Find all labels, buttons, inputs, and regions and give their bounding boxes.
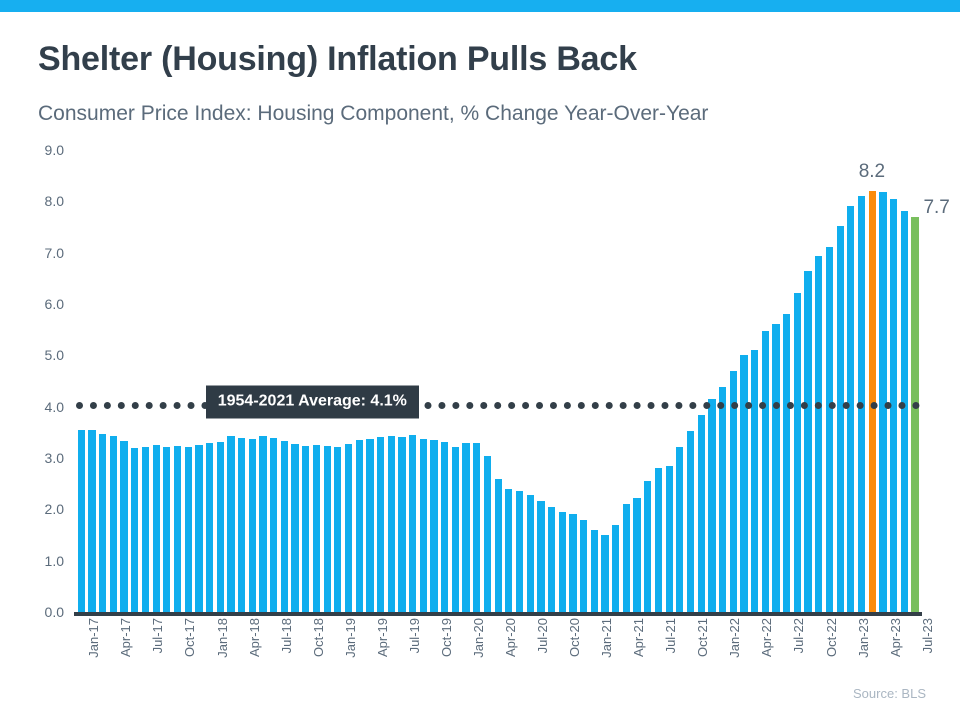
bar-slot <box>279 150 290 612</box>
bar <box>217 442 224 612</box>
bar <box>78 430 85 612</box>
x-axis-tick-label: Apr-22 <box>759 618 774 657</box>
x-axis-tick-label: Jan-20 <box>471 618 486 658</box>
bar <box>815 256 822 612</box>
bar <box>291 444 298 612</box>
bar-slot <box>771 150 782 612</box>
bar-slot <box>568 150 579 612</box>
bar-slot <box>129 150 140 612</box>
bar-slot <box>867 150 878 612</box>
bar-slot <box>749 150 760 612</box>
bar <box>762 331 769 612</box>
bar-slot <box>856 150 867 612</box>
bar <box>719 387 726 612</box>
bar <box>366 439 373 613</box>
y-axis-tick-label: 0.0 <box>45 604 64 620</box>
bar <box>227 436 234 612</box>
bar-slot <box>536 150 547 612</box>
bar-slot <box>514 150 525 612</box>
page-subtitle: Consumer Price Index: Housing Component,… <box>38 102 708 126</box>
bar <box>644 481 651 612</box>
bar-slot <box>258 150 269 612</box>
x-axis-tick-label: Jul-23 <box>920 618 935 653</box>
bar <box>324 446 331 612</box>
bar-slot <box>760 150 771 612</box>
bar <box>804 271 811 612</box>
bar-slot <box>418 150 429 612</box>
bar-slot <box>888 150 899 612</box>
bar <box>473 443 480 612</box>
bar-slot <box>589 150 600 612</box>
x-axis-tick-label: Apr-23 <box>888 618 903 657</box>
bar <box>559 512 566 612</box>
y-axis-tick-label: 5.0 <box>45 347 64 363</box>
x-axis-tick-label: Oct-22 <box>824 618 839 657</box>
x-axis-tick-label: Oct-17 <box>182 618 197 657</box>
average-annotation-badge: 1954-2021 Average: 4.1% <box>206 385 419 418</box>
x-axis-tick-label: Jan-17 <box>86 618 101 658</box>
chart-plot-area: 9.08.07.06.05.04.03.02.01.00.0 1954-2021… <box>76 150 920 612</box>
bar-slot <box>600 150 611 612</box>
bar-slot <box>546 150 557 612</box>
bar <box>580 520 587 612</box>
bar-slot <box>846 150 857 612</box>
bar <box>612 525 619 612</box>
y-axis-tick-label: 8.0 <box>45 193 64 209</box>
bar-slot <box>632 150 643 612</box>
bar-slot <box>803 150 814 612</box>
bar <box>163 447 170 612</box>
bar <box>527 495 534 612</box>
bar-slot <box>557 150 568 612</box>
x-axis-tick-label: Jan-18 <box>215 618 230 658</box>
bar <box>174 446 181 612</box>
bar <box>794 293 801 612</box>
bar <box>708 399 715 612</box>
bar-slot <box>899 150 910 612</box>
bar-series <box>76 150 920 612</box>
bar-slot <box>311 150 322 612</box>
bar-slot <box>525 150 536 612</box>
y-axis-tick-label: 6.0 <box>45 296 64 312</box>
bar-slot <box>504 150 515 612</box>
bar-slot <box>429 150 440 612</box>
bar-slot <box>707 150 718 612</box>
bar-slot <box>119 150 130 612</box>
bar-slot <box>792 150 803 612</box>
bar <box>676 447 683 612</box>
bar <box>249 439 256 613</box>
bar <box>847 206 854 612</box>
x-axis-tick-label: Oct-18 <box>311 618 326 657</box>
bar <box>398 437 405 612</box>
bar <box>281 441 288 612</box>
bar <box>110 436 117 612</box>
bar-slot <box>824 150 835 612</box>
y-axis-tick-label: 9.0 <box>45 142 64 158</box>
bar-slot <box>386 150 397 612</box>
bar-slot <box>493 150 504 612</box>
bar-slot <box>365 150 376 612</box>
data-label-latest: 7.7 <box>923 197 949 219</box>
bar-slot <box>172 150 183 612</box>
x-axis-tick-label: Apr-19 <box>375 618 390 657</box>
bar <box>772 324 779 612</box>
bar-slot <box>76 150 87 612</box>
bar-slot <box>610 150 621 612</box>
x-axis-tick-label: Oct-20 <box>567 618 582 657</box>
bar <box>548 507 555 612</box>
x-axis-baseline <box>74 612 922 616</box>
bar-slot <box>739 150 750 612</box>
bar <box>142 447 149 612</box>
x-axis-tick-label: Jul-18 <box>279 618 294 653</box>
bar <box>131 448 138 612</box>
x-axis-tick-label: Jul-19 <box>407 618 422 653</box>
bar <box>420 439 427 613</box>
x-axis-tick-label: Jan-19 <box>343 618 358 658</box>
x-axis-tick-label: Jul-21 <box>663 618 678 653</box>
bar <box>377 437 384 612</box>
bar-slot <box>151 150 162 612</box>
bar-slot <box>375 150 386 612</box>
x-axis-tick-label: Jan-23 <box>856 618 871 658</box>
bar <box>345 444 352 612</box>
bar-slot <box>578 150 589 612</box>
bar-slot <box>322 150 333 612</box>
bar <box>238 438 245 612</box>
bar-slot <box>343 150 354 612</box>
x-axis-tick-label: Jul-20 <box>535 618 550 653</box>
x-axis-tick-label: Oct-21 <box>695 618 710 657</box>
x-axis-tick-label: Jul-22 <box>791 618 806 653</box>
y-axis-tick-label: 3.0 <box>45 450 64 466</box>
bar <box>826 247 833 612</box>
bar <box>591 530 598 612</box>
bar-slot <box>461 150 472 612</box>
x-axis-tick-label: Apr-20 <box>503 618 518 657</box>
bar <box>623 504 630 612</box>
bar-slot <box>439 150 450 612</box>
bar-slot <box>642 150 653 612</box>
y-axis-tick-label: 7.0 <box>45 245 64 261</box>
bar-highlight-latest <box>911 217 918 612</box>
bar-slot <box>236 150 247 612</box>
data-label-peak: 8.2 <box>859 161 885 183</box>
bar-slot <box>97 150 108 612</box>
bar-slot <box>290 150 301 612</box>
bar <box>495 479 502 612</box>
bar-slot <box>407 150 418 612</box>
bar-slot <box>215 150 226 612</box>
bar <box>666 466 673 612</box>
bar-slot <box>397 150 408 612</box>
bar-slot <box>664 150 675 612</box>
bar <box>462 443 469 612</box>
bar <box>302 446 309 612</box>
bar <box>537 501 544 612</box>
bar <box>409 435 416 612</box>
bar <box>153 445 160 612</box>
bar <box>783 314 790 612</box>
bar-slot <box>268 150 279 612</box>
bar-slot <box>685 150 696 612</box>
bar <box>687 431 694 612</box>
y-axis-tick-label: 2.0 <box>45 501 64 517</box>
x-axis-tick-label: Jan-22 <box>727 618 742 658</box>
bar-slot <box>300 150 311 612</box>
bar-slot <box>621 150 632 612</box>
bar-slot <box>653 150 664 612</box>
bar <box>569 514 576 612</box>
y-axis-tick-label: 1.0 <box>45 553 64 569</box>
page-title: Shelter (Housing) Inflation Pulls Back <box>38 40 637 79</box>
bar <box>601 535 608 613</box>
bar-slot <box>354 150 365 612</box>
bar-slot <box>450 150 461 612</box>
bar <box>206 443 213 612</box>
bar <box>313 445 320 612</box>
bar <box>516 491 523 612</box>
bar <box>633 498 640 612</box>
bar <box>99 434 106 612</box>
bar-slot <box>247 150 258 612</box>
bar <box>185 447 192 612</box>
bar <box>751 350 758 612</box>
bar <box>452 447 459 612</box>
y-axis-tick-label: 4.0 <box>45 399 64 415</box>
bar-slot <box>140 150 151 612</box>
bar <box>430 440 437 612</box>
bar <box>505 489 512 612</box>
x-axis-tick-label: Apr-17 <box>118 618 133 657</box>
bar-slot <box>204 150 215 612</box>
x-axis-tick-label: Jan-21 <box>599 618 614 658</box>
bar-slot <box>675 150 686 612</box>
bar-slot <box>194 150 205 612</box>
bar-slot <box>728 150 739 612</box>
bar <box>195 445 202 612</box>
bar-slot <box>878 150 889 612</box>
bar-slot <box>471 150 482 612</box>
average-reference-line <box>76 402 920 409</box>
top-accent-rule <box>0 0 960 12</box>
bar <box>441 442 448 612</box>
bar <box>356 440 363 612</box>
bar-slot <box>226 150 237 612</box>
bar <box>334 447 341 612</box>
bar <box>740 355 747 612</box>
bar <box>901 211 908 612</box>
bar-slot <box>835 150 846 612</box>
bar-slot <box>87 150 98 612</box>
bar-slot <box>696 150 707 612</box>
bar-slot <box>717 150 728 612</box>
source-note: Source: BLS <box>853 686 926 701</box>
bar <box>837 226 844 612</box>
x-axis-tick-label: Oct-19 <box>439 618 454 657</box>
bar-slot <box>183 150 194 612</box>
bar <box>259 436 266 612</box>
bar <box>655 468 662 612</box>
bar <box>120 441 127 612</box>
bar-slot <box>333 150 344 612</box>
bar <box>388 436 395 612</box>
bar-slot <box>108 150 119 612</box>
bar <box>270 438 277 612</box>
bar-slot <box>162 150 173 612</box>
bar <box>88 430 95 612</box>
x-axis-tick-label: Apr-21 <box>631 618 646 657</box>
bar-slot <box>910 150 921 612</box>
bar-slot <box>482 150 493 612</box>
x-axis-tick-label: Apr-18 <box>247 618 262 657</box>
x-axis-tick-label: Jul-17 <box>150 618 165 653</box>
bar-slot <box>813 150 824 612</box>
bar <box>698 415 705 612</box>
bar <box>484 456 491 612</box>
bar-slot <box>781 150 792 612</box>
